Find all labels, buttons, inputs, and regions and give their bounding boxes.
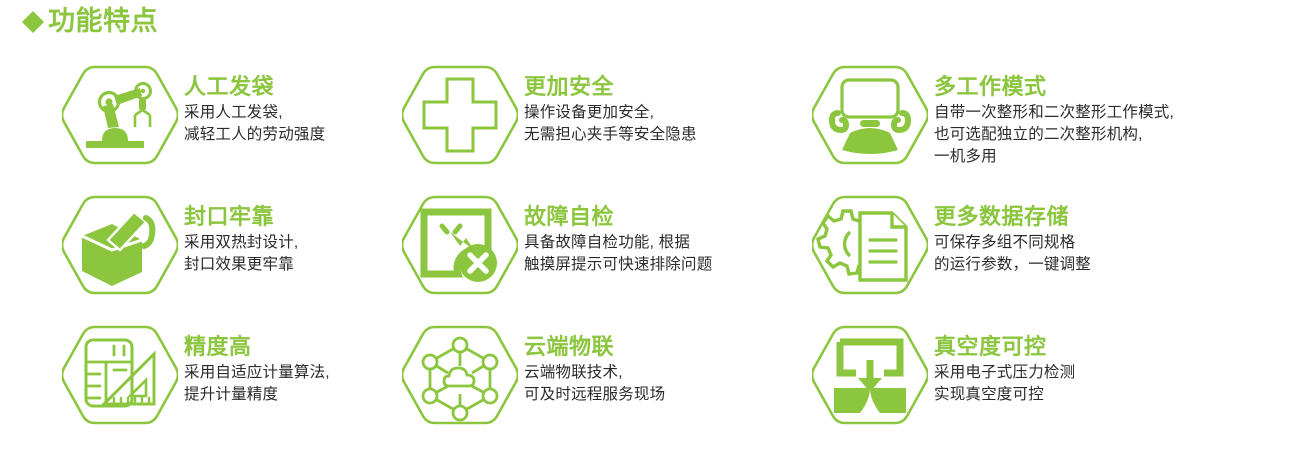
feature-text: 封口牢靠 采用双热封设计, 封口效果更牢靠	[178, 188, 298, 276]
feature-description: 采用电子式压力检测 实现真空度可控	[934, 362, 1075, 406]
feature-description: 采用双热封设计, 封口效果更牢靠	[184, 232, 298, 276]
feature-title: 更加安全	[524, 74, 697, 99]
feature-description: 采用人工发袋, 减轻工人的劳动强度	[184, 102, 325, 146]
feature-text: 精度高 采用自适应计量算法, 提升计量精度	[178, 318, 330, 406]
feature-title: 真空度可控	[934, 334, 1075, 359]
safety-cross-icon	[402, 58, 518, 174]
fault-detect-icon	[402, 188, 518, 304]
feature-text: 云端物联 云端物联技术, 可及时远程服务现场	[518, 318, 665, 406]
feature-title: 精度高	[184, 334, 330, 359]
feature-title: 云端物联	[524, 334, 665, 359]
cloud-network-icon	[402, 318, 518, 434]
feature-item: 人工发袋 采用人工发袋, 减轻工人的劳动强度	[0, 58, 392, 188]
machine-modes-icon	[812, 58, 928, 174]
feature-text: 多工作模式 自带一次整形和二次整形工作模式, 也可选配独立的二次整形机构, 一机…	[928, 58, 1174, 168]
section-heading: 功能特点	[22, 8, 158, 35]
feature-title: 故障自检	[524, 204, 712, 229]
feature-item: 真空度可控 采用电子式压力检测 实现真空度可控	[802, 318, 1246, 458]
feature-text: 真空度可控 采用电子式压力检测 实现真空度可控	[928, 318, 1075, 406]
feature-description: 自带一次整形和二次整形工作模式, 也可选配独立的二次整形机构, 一机多用	[934, 102, 1174, 168]
feature-item: 更加安全 操作设备更加安全, 无需担心夹手等安全隐患	[392, 58, 802, 188]
sealed-package-icon	[62, 188, 178, 304]
feature-item: 封口牢靠 采用双热封设计, 封口效果更牢靠	[0, 188, 392, 318]
ruler-precision-icon	[62, 318, 178, 434]
feature-text: 人工发袋 采用人工发袋, 减轻工人的劳动强度	[178, 58, 325, 146]
feature-item: 云端物联 云端物联技术, 可及时远程服务现场	[392, 318, 802, 458]
feature-title: 更多数据存储	[934, 204, 1091, 229]
feature-description: 操作设备更加安全, 无需担心夹手等安全隐患	[524, 102, 697, 146]
feature-item: 多工作模式 自带一次整形和二次整形工作模式, 也可选配独立的二次整形机构, 一机…	[802, 58, 1246, 188]
feature-text: 更多数据存储 可保存多组不同规格 的运行参数，一键调整	[928, 188, 1091, 276]
feature-item: 故障自检 具备故障自检功能, 根据 触摸屏提示可快速排除问题	[392, 188, 802, 318]
feature-text: 故障自检 具备故障自检功能, 根据 触摸屏提示可快速排除问题	[518, 188, 712, 276]
robot-arm-icon	[62, 58, 178, 174]
feature-description: 云端物联技术, 可及时远程服务现场	[524, 362, 665, 406]
feature-item: 更多数据存储 可保存多组不同规格 的运行参数，一键调整	[802, 188, 1246, 318]
feature-highlights-page: 功能特点	[0, 0, 1304, 464]
feature-title: 多工作模式	[934, 74, 1174, 99]
vacuum-control-icon	[812, 318, 928, 434]
feature-description: 具备故障自检功能, 根据 触摸屏提示可快速排除问题	[524, 232, 712, 276]
feature-title: 封口牢靠	[184, 204, 298, 229]
feature-title: 人工发袋	[184, 74, 325, 99]
page-title: 功能特点	[46, 8, 158, 35]
diamond-bullet-icon	[22, 0, 44, 22]
features-grid: 人工发袋 采用人工发袋, 减轻工人的劳动强度 更加安全 操作设备更加安全, 无需…	[0, 58, 1304, 458]
feature-text: 更加安全 操作设备更加安全, 无需担心夹手等安全隐患	[518, 58, 697, 146]
feature-description: 可保存多组不同规格 的运行参数，一键调整	[934, 232, 1091, 276]
feature-description: 采用自适应计量算法, 提升计量精度	[184, 362, 330, 406]
feature-item: 精度高 采用自适应计量算法, 提升计量精度	[0, 318, 392, 458]
gear-document-icon	[812, 188, 928, 304]
